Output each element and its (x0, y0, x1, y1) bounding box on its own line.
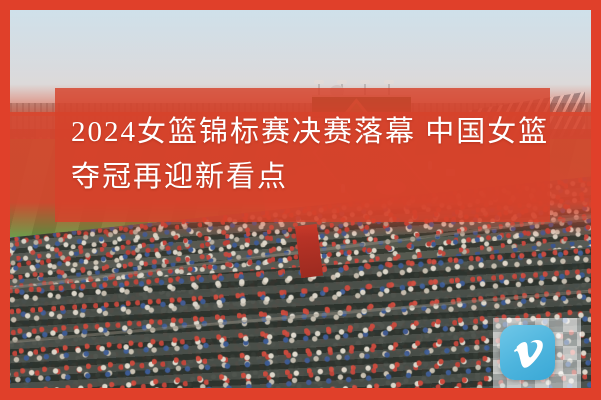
bottom-frame-bar (0, 388, 601, 400)
article-cover-image: 2024女篮锦标赛决赛落幕 中国女篮 夺冠再迎新看点 (0, 0, 601, 400)
title-line-2: 夺冠再迎新看点 (71, 155, 534, 200)
vimeo-logo[interactable] (500, 325, 555, 380)
title-overlay-band: 2024女篮锦标赛决赛落幕 中国女篮 夺冠再迎新看点 (55, 88, 550, 222)
title-line-1: 2024女篮锦标赛决赛落幕 中国女篮 (71, 110, 534, 155)
